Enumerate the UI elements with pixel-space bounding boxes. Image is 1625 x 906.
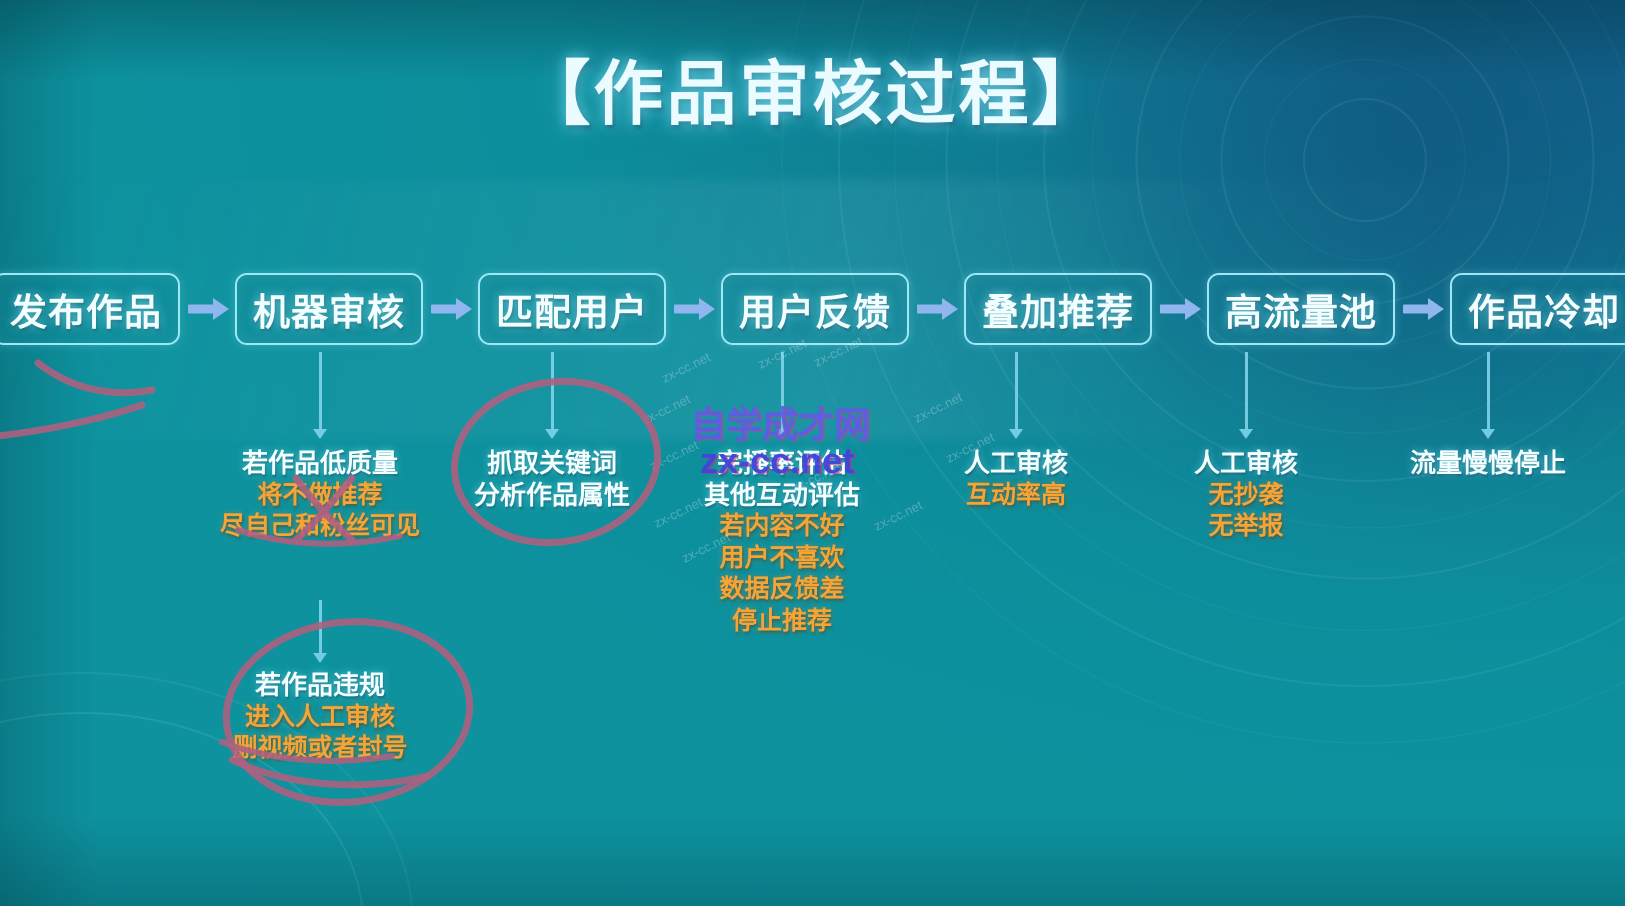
flow-arrow-icon-6: [1401, 302, 1444, 316]
page-title: 【作品审核过程】: [0, 38, 1625, 139]
flow-node-publish[interactable]: 发布作品: [0, 273, 180, 345]
detail-heading: 完播率评估: [662, 448, 902, 480]
slide-canvas: 【作品审核过程】 发布作品 机器审核 匹配用户 用户反馈 叠加推荐 高流量池 作…: [0, 0, 1625, 906]
detail-item: 停止推荐: [662, 606, 902, 638]
connector-arrow-down-icon: [319, 600, 322, 654]
flow-node-high-traffic-pool[interactable]: 高流量池: [1207, 273, 1395, 345]
detail-item: 尽自己和粉丝可见: [200, 511, 440, 543]
detail-item: 无抄袭: [1126, 480, 1366, 512]
flow-node-label: 高流量池: [1225, 282, 1377, 336]
detail-item: 将不做推荐: [200, 480, 440, 512]
connector-arrow-down-icon: [1487, 352, 1490, 430]
flow-arrow-icon-3: [672, 302, 715, 316]
detail-column-user-feedback: 完播率评估 其他互动评估 若内容不好 用户不喜欢 数据反馈差 停止推荐: [662, 352, 902, 637]
flow-node-match-users[interactable]: 匹配用户: [478, 273, 666, 345]
detail-column-content-cooldown: 流量慢慢停止: [1358, 352, 1618, 480]
flow-node-label: 匹配用户: [496, 282, 648, 336]
flow-arrow-icon-1: [186, 302, 229, 316]
detail-column-machine-review: 若作品低质量 将不做推荐 尽自己和粉丝可见: [200, 352, 440, 543]
flow-arrow-icon-5: [1158, 302, 1201, 316]
detail-heading: 流量慢慢停止: [1358, 448, 1618, 480]
connector-arrow-down-icon: [1245, 352, 1248, 430]
flow-node-label: 发布作品: [10, 282, 162, 336]
flow-node-machine-review[interactable]: 机器审核: [235, 273, 423, 345]
detail-item: 删视频或者封号: [200, 733, 440, 765]
connector-arrow-down-icon: [781, 352, 784, 430]
detail-heading: 人工审核: [1126, 448, 1366, 480]
detail-heading: 抓取关键词: [432, 448, 672, 480]
detail-heading: 人工审核: [896, 448, 1136, 480]
flow-node-content-cooldown[interactable]: 作品冷却: [1450, 273, 1625, 345]
detail-heading: 分析作品属性: [432, 480, 672, 512]
connector-arrow-down-icon: [319, 352, 322, 430]
detail-column-violation-branch: 若作品违规 进入人工审核 删视频或者封号: [200, 600, 440, 765]
flow-node-label: 作品冷却: [1468, 282, 1620, 336]
detail-heading: 若作品违规: [200, 670, 440, 702]
detail-column-high-traffic-pool: 人工审核 无抄袭 无举报: [1126, 352, 1366, 543]
detail-item: 进入人工审核: [200, 702, 440, 734]
detail-heading: 其他互动评估: [662, 480, 902, 512]
detail-column-match-users: 抓取关键词 分析作品属性: [432, 352, 672, 511]
flow-node-label: 机器审核: [253, 282, 405, 336]
detail-item: 若内容不好: [662, 511, 902, 543]
detail-item: 用户不喜欢: [662, 543, 902, 575]
flow-node-label: 叠加推荐: [982, 282, 1134, 336]
flow-node-boost-recommend[interactable]: 叠加推荐: [964, 273, 1152, 345]
flow-node-user-feedback[interactable]: 用户反馈: [721, 273, 909, 345]
flow-arrow-icon-4: [915, 302, 958, 316]
detail-heading: 若作品低质量: [200, 448, 440, 480]
detail-item: 无举报: [1126, 511, 1366, 543]
process-flow-row: 发布作品 机器审核 匹配用户 用户反馈 叠加推荐 高流量池 作品冷却: [0, 272, 1625, 346]
connector-arrow-down-icon: [1015, 352, 1018, 430]
detail-column-boost-recommend: 人工审核 互动率高: [896, 352, 1136, 511]
connector-arrow-down-icon: [551, 352, 554, 430]
flow-arrow-icon-2: [429, 302, 472, 316]
detail-item: 互动率高: [896, 480, 1136, 512]
flow-node-label: 用户反馈: [739, 282, 891, 336]
detail-item: 数据反馈差: [662, 574, 902, 606]
